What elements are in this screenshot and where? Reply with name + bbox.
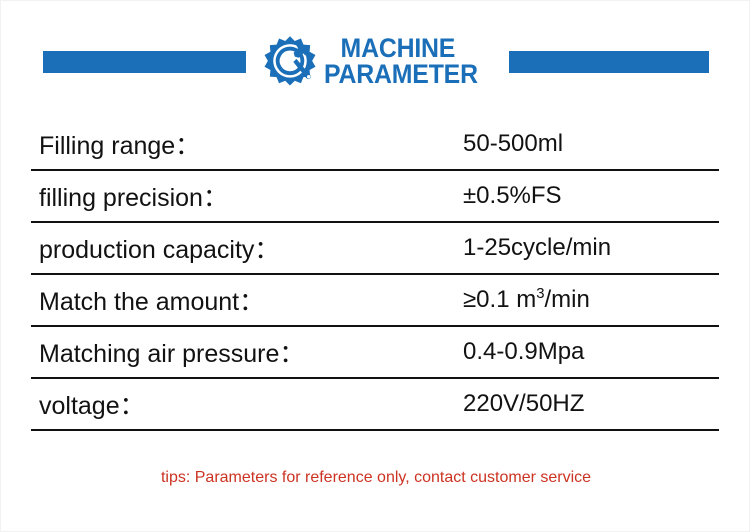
header: MACHINE PARAMETER [1, 23, 750, 101]
parameter-label: filling precision： [31, 178, 461, 214]
parameter-value: 220V/50HZ [461, 390, 719, 418]
parameter-value: 1-25cycle/min [461, 234, 719, 262]
parameter-table: Filling range： 50-500ml filling precisio… [31, 119, 719, 431]
parameter-value: ≥0.1 m3/min [461, 286, 719, 314]
title-line-2: PARAMETER [324, 62, 478, 88]
value-prefix: ≥0.1 m [463, 286, 536, 313]
tips-note: tips: Parameters for reference only, con… [1, 469, 750, 487]
parameter-label: voltage： [31, 386, 461, 422]
parameter-label: Filling range： [31, 126, 461, 162]
machine-parameter-card: MACHINE PARAMETER Filling range： 50-500m… [0, 0, 750, 532]
header-rule-left [43, 51, 246, 73]
table-row: filling precision： ±0.5%FS [31, 171, 719, 223]
page-title: MACHINE PARAMETER [324, 36, 478, 87]
title-line-1: MACHINE [324, 36, 478, 62]
parameter-value: ±0.5%FS [461, 182, 719, 210]
table-row: Filling range： 50-500ml [31, 119, 719, 171]
table-row: voltage： 220V/50HZ [31, 379, 719, 431]
header-rule-right [509, 51, 709, 73]
table-row: production capacity： 1-25cycle/min [31, 223, 719, 275]
parameter-label: production capacity： [31, 230, 461, 266]
title-block: MACHINE PARAMETER [262, 34, 491, 90]
parameter-value: 50-500ml [461, 130, 719, 158]
parameter-label: Match the amount： [31, 282, 461, 318]
gear-wrench-icon [262, 34, 318, 90]
parameter-label: Matching air pressure： [31, 334, 461, 370]
parameter-value: 0.4-0.9Mpa [461, 338, 719, 366]
table-row: Match the amount： ≥0.1 m3/min [31, 275, 719, 327]
value-suffix: /min [544, 286, 589, 313]
table-row: Matching air pressure： 0.4-0.9Mpa [31, 327, 719, 379]
